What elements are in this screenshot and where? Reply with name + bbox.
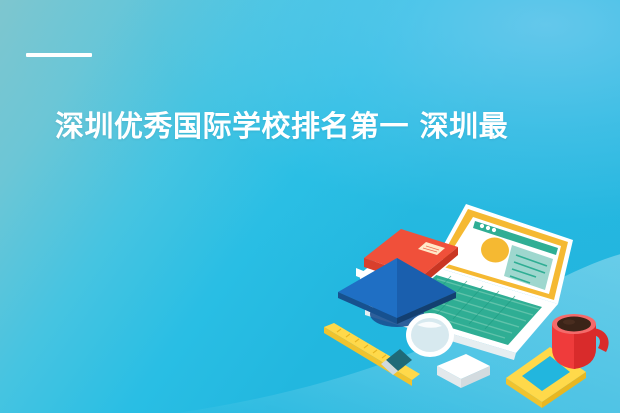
top-divider-rule xyxy=(26,53,92,57)
banner-card: 深圳优秀国际学校排名第一 深圳最 xyxy=(0,0,620,413)
page-title: 深圳优秀国际学校排名第一 深圳最 xyxy=(55,106,615,146)
coffee-mug-icon xyxy=(552,314,609,369)
eraser-icon xyxy=(437,354,490,388)
education-desk-illustration xyxy=(320,196,620,413)
